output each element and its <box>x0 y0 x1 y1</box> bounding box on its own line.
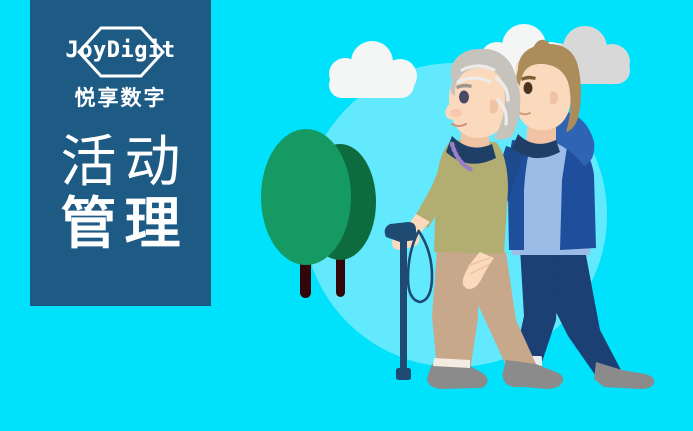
logo-mark: JoyDigit <box>46 26 196 78</box>
woman-back-shoe <box>502 360 563 389</box>
page-title: 活动 管理 <box>30 132 211 256</box>
logo: JoyDigit 悦享数字 <box>30 26 211 111</box>
page-title-line-1: 活动 <box>30 132 211 194</box>
page-title-line-2: 管理 <box>30 194 211 256</box>
young-man-back-shoe <box>594 362 654 389</box>
brand-panel: JoyDigit 悦享数字 活动 管理 <box>30 0 211 306</box>
woman-ear <box>490 100 498 114</box>
young-man-ear <box>550 92 558 105</box>
woman-front-shoe <box>427 364 488 389</box>
woman-eye <box>459 91 469 104</box>
poster-canvas: JoyDigit 悦享数字 活动 管理 <box>0 0 693 431</box>
woman-cheek <box>450 109 462 117</box>
cane-shaft <box>400 238 407 373</box>
cloud-left <box>329 41 417 98</box>
young-man-eye <box>524 82 533 94</box>
logo-chinese-name: 悦享数字 <box>30 85 211 111</box>
cane-tip <box>396 368 411 380</box>
logo-wordmark: JoyDigit <box>46 37 196 65</box>
